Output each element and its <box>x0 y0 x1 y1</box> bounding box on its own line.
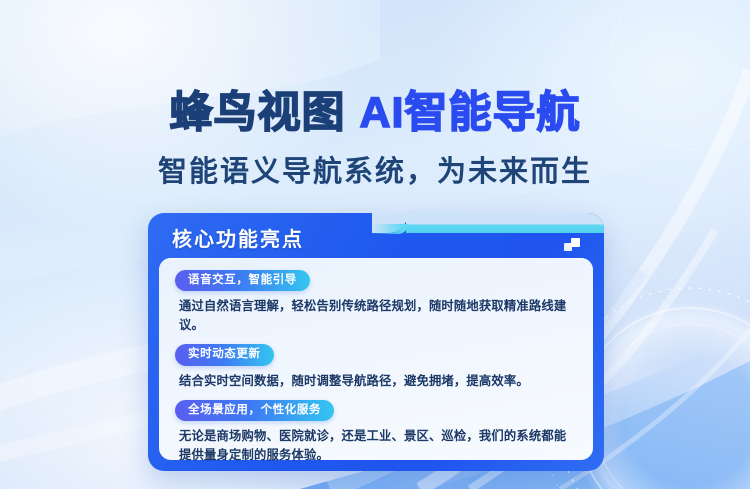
two-squares-icon <box>564 238 582 251</box>
feature-tag: 全场景应用，个性化服务 <box>175 400 334 421</box>
page-title: 蜂鸟视图AI智能导航 <box>0 92 750 135</box>
core-features-card: 核心功能亮点 语音交互，智能引导 通过自然语言理解，轻松告别传统路径规划，随时随… <box>148 213 604 471</box>
feature-item: 语音交互，智能引导 通过自然语言理解，轻松告别传统路径规划，随时随地获取精准路线… <box>175 270 577 335</box>
feature-tag: 语音交互，智能引导 <box>175 270 310 291</box>
card-shell: 核心功能亮点 语音交互，智能引导 通过自然语言理解，轻松告别传统路径规划，随时随… <box>148 213 604 471</box>
feature-description: 通过自然语言理解，轻松告别传统路径规划，随时随地获取精准路线建议。 <box>179 297 577 335</box>
feature-tag: 实时动态更新 <box>175 344 274 365</box>
feature-item: 实时动态更新 结合实时空间数据，随时调整导航路径，避免拥堵，提高效率。 <box>175 344 577 390</box>
page-title-accent: AI智能导航 <box>360 89 581 137</box>
two-squares-icon-square-b <box>571 238 580 247</box>
features-panel: 语音交互，智能引导 通过自然语言理解，轻松告别传统路径规划，随时随地获取精准路线… <box>159 258 593 460</box>
card-header: 核心功能亮点 <box>148 213 604 261</box>
page-title-brand: 蜂鸟视图 <box>170 89 346 137</box>
feature-description: 无论是商场购物、医院就诊，还是工业、景区、巡检，我们的系统都能提供量身定制的服务… <box>179 427 577 465</box>
feature-description: 结合实时空间数据，随时调整导航路径，避免拥堵，提高效率。 <box>179 372 577 391</box>
card-title: 核心功能亮点 <box>172 223 304 252</box>
promo-banner: 蜂鸟视图AI智能导航 智能语义导航系统，为未来而生 核心功能亮点 语音交互，智能… <box>0 0 750 489</box>
page-subtitle: 智能语义导航系统，为未来而生 <box>0 155 750 190</box>
feature-item: 全场景应用，个性化服务 无论是商场购物、医院就诊，还是工业、景区、巡检，我们的系… <box>175 400 577 465</box>
